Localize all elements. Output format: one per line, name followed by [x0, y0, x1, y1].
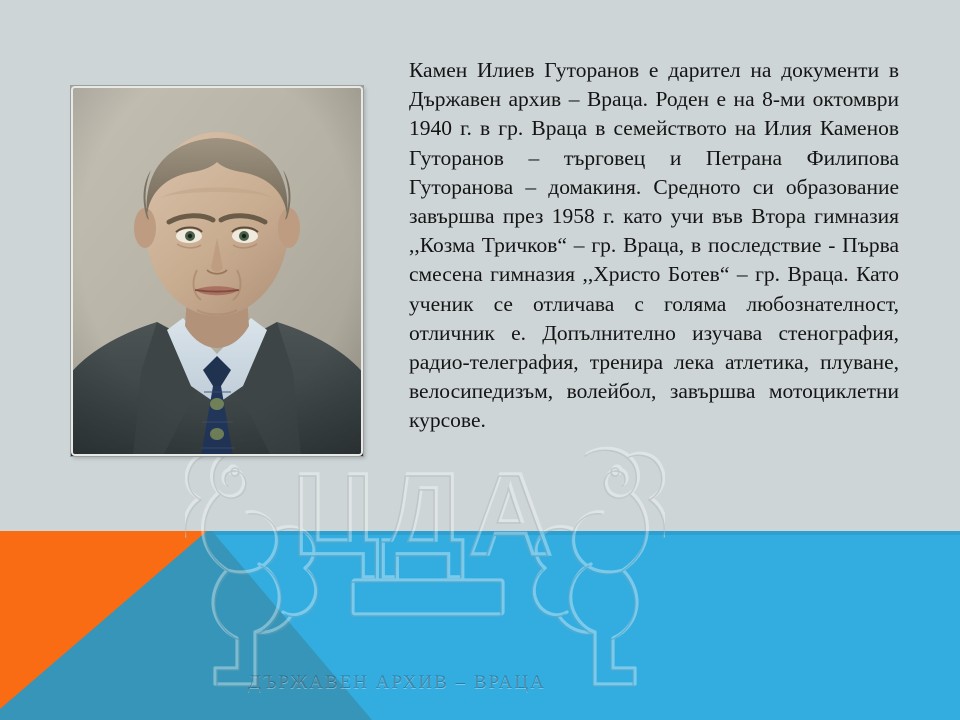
portrait-photo: [71, 86, 363, 456]
presentation-slide: ЦДА ЦДА ДЪРЖАВЕН АРХИВ – ВРАЦА: [0, 0, 960, 720]
biography-paragraph: Камен Илиев Гуторанов е дарител на докум…: [409, 56, 899, 436]
bottom-banner: [0, 531, 960, 720]
